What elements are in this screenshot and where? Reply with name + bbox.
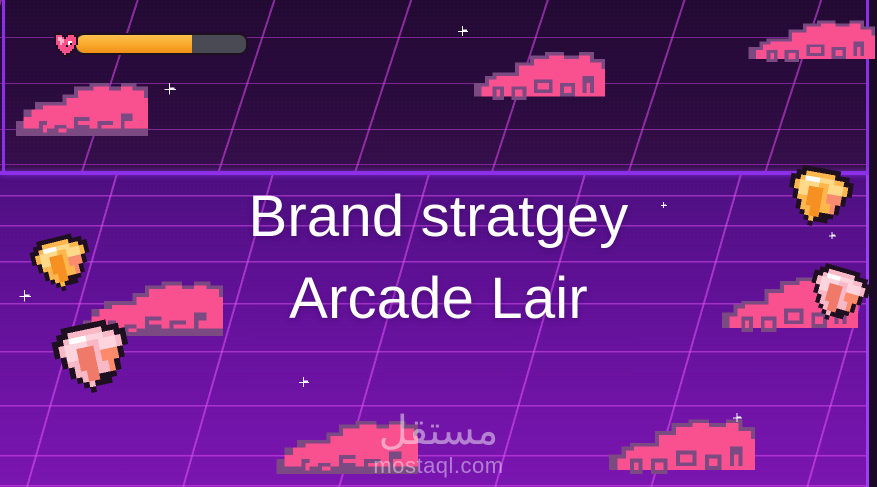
horizon-line [0, 171, 877, 175]
sparkle-1-icon [163, 83, 176, 96]
cloud-top-center-icon [470, 28, 605, 100]
health-bar-track [74, 33, 248, 55]
cloud-top-right-icon [745, 0, 875, 62]
sparkle-4-icon [298, 377, 309, 388]
arcade-lair-cover: Brand stratgey Arcade Lair مستقل mostaql… [0, 0, 877, 487]
watermark-arabic: مستقل [0, 409, 877, 453]
sparkle-2-icon [457, 26, 468, 37]
title-line-2: Arcade Lair [0, 258, 877, 340]
watermark: مستقل mostaql.com [0, 409, 877, 479]
page-title: Brand stratgey Arcade Lair [0, 176, 877, 340]
cloud-top-left-icon [8, 60, 148, 140]
title-line-1: Brand stratgey [0, 176, 877, 258]
hud-health-bar [50, 31, 248, 57]
heart-icon [50, 31, 80, 57]
frame-line-left [2, 0, 5, 174]
health-bar-fill [76, 35, 192, 53]
watermark-latin: mostaql.com [0, 453, 877, 479]
